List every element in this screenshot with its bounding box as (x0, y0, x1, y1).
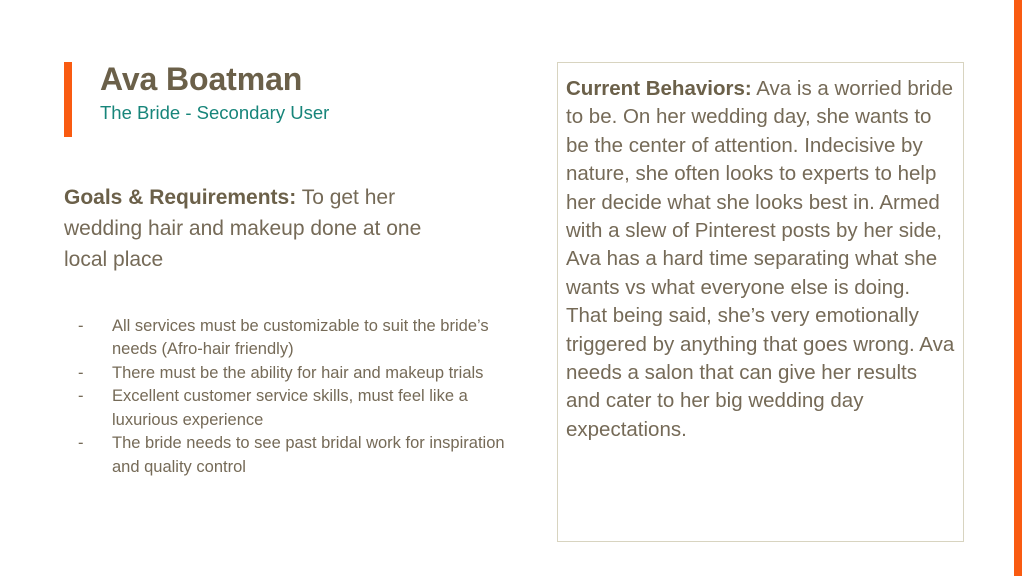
left-column: Ava Boatman The Bride - Secondary User G… (0, 0, 540, 576)
right-edge-accent-bar (1014, 0, 1022, 576)
current-behaviors-text: Ava is a worried bride to be. On her wed… (566, 77, 954, 441)
bullet-dash-icon: - (78, 385, 112, 408)
list-item: -All services must be customizable to su… (78, 315, 508, 362)
requirements-list: -All services must be customizable to su… (78, 315, 508, 479)
list-item-label: There must be the ability for hair and m… (112, 362, 508, 385)
goals-requirements-paragraph: Goals & Requirements: To get her wedding… (64, 183, 464, 276)
title-block: Ava Boatman The Bride - Secondary User (64, 62, 504, 125)
current-behaviors-paragraph: Current Behaviors: Ava is a worried brid… (558, 63, 963, 444)
title-accent-bar (64, 62, 72, 137)
bullet-dash-icon: - (78, 362, 112, 385)
bullet-dash-icon: - (78, 315, 112, 338)
bullet-dash-icon: - (78, 432, 112, 455)
current-behaviors-box: Current Behaviors: Ava is a worried brid… (557, 62, 964, 542)
list-item: -Excellent customer service skills, must… (78, 385, 508, 432)
list-item-label: All services must be customizable to sui… (112, 315, 508, 362)
list-item: -The bride needs to see past bridal work… (78, 432, 508, 479)
list-item-label: The bride needs to see past bridal work … (112, 432, 508, 479)
list-item-label: Excellent customer service skills, must … (112, 385, 508, 432)
current-behaviors-label: Current Behaviors: (566, 77, 752, 100)
goals-requirements-label: Goals & Requirements: (64, 186, 296, 209)
persona-role-subtitle: The Bride - Secondary User (100, 101, 504, 125)
title-text-wrap: Ava Boatman The Bride - Secondary User (64, 62, 504, 125)
persona-slide: Ava Boatman The Bride - Secondary User G… (0, 0, 1024, 576)
list-item: -There must be the ability for hair and … (78, 362, 508, 385)
page-title: Ava Boatman (100, 62, 504, 98)
